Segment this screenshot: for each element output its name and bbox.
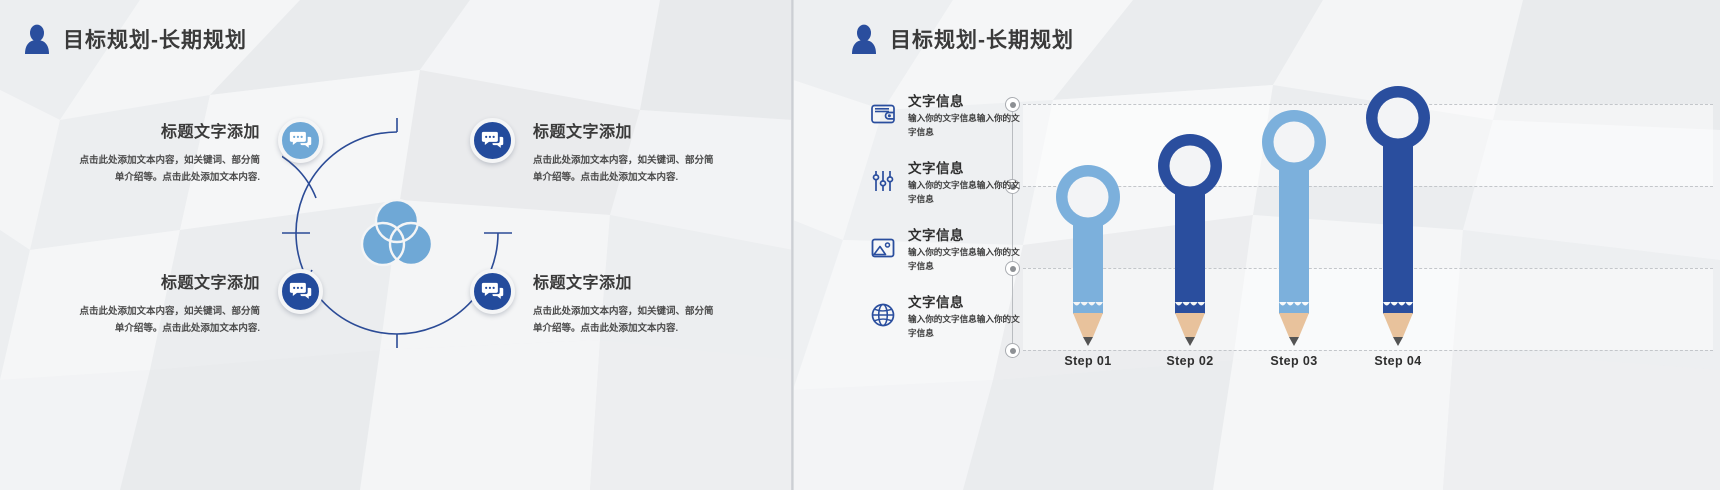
list-item-body: 输入你的文字信息输入你的文字信息 [908, 179, 1020, 207]
list-item-text: 文字信息 输入你的文字信息输入你的文字信息 [908, 289, 1020, 341]
quadrant-top-left[interactable]: 标题文字添加 点击此处添加文本内容，如关键词、部分简单介绍等。点击此处添加文本内… [72, 118, 323, 186]
quadrant-body: 点击此处添加文本内容，如关键词、部分简单介绍等。点击此处添加文本内容. [533, 153, 721, 186]
quadrant-top-right[interactable]: 标题文字添加 点击此处添加文本内容，如关键词、部分简单介绍等。点击此处添加文本内… [470, 118, 721, 186]
quadrant-bottom-left[interactable]: 标题文字添加 点击此处添加文本内容，如关键词、部分简单介绍等。点击此处添加文本内… [72, 269, 323, 337]
pencil-bar-step-01[interactable] [1051, 164, 1125, 346]
speech-bubbles-icon[interactable] [278, 269, 323, 314]
step-label-03: Step 03 [1239, 354, 1349, 368]
list-item-title: 文字信息 [908, 157, 1020, 177]
slide-header-right: 目标规划-长期规划 [851, 24, 1074, 54]
quadrant-title: 标题文字添加 [533, 269, 721, 293]
step-label-01: Step 01 [1033, 354, 1143, 368]
slide-left: 目标规划-长期规划 [0, 0, 793, 490]
speech-bubbles-icon[interactable] [470, 269, 515, 314]
quadrant-text-block: 标题文字添加 点击此处添加文本内容，如关键词、部分简单介绍等。点击此处添加文本内… [72, 118, 260, 186]
venn-three-circles-icon [362, 200, 432, 265]
quadrant-text-block: 标题文字添加 点击此处添加文本内容，如关键词、部分简单介绍等。点击此处添加文本内… [533, 269, 721, 337]
list-item[interactable]: 文字信息 输入你的文字信息输入你的文字信息 [868, 88, 1098, 155]
speech-bubbles-icon[interactable] [278, 118, 323, 163]
pencil-bar-step-03[interactable] [1257, 109, 1331, 346]
list-item-text: 文字信息 输入你的文字信息输入你的文字信息 [908, 222, 1020, 274]
person-avatar-icon [24, 24, 50, 54]
image-icon [868, 233, 898, 263]
wallet-icon [868, 99, 898, 129]
list-item-title: 文字信息 [908, 291, 1020, 311]
quadrant-text-block: 标题文字添加 点击此处添加文本内容，如关键词、部分简单介绍等。点击此处添加文本内… [533, 118, 721, 186]
quadrant-body: 点击此处添加文本内容，如关键词、部分简单介绍等。点击此处添加文本内容. [72, 153, 260, 186]
list-item-title: 文字信息 [908, 90, 1020, 110]
list-item-text: 文字信息 输入你的文字信息输入你的文字信息 [908, 155, 1020, 207]
list-item-text: 文字信息 输入你的文字信息输入你的文字信息 [908, 88, 1020, 140]
slide-right: 目标规划-长期规划 [793, 0, 1720, 490]
screenshot-root: 目标规划-长期规划 [0, 0, 1720, 490]
page-title: 目标规划-长期规划 [890, 24, 1074, 54]
list-item-body: 输入你的文字信息输入你的文字信息 [908, 112, 1020, 140]
person-avatar-icon [851, 24, 877, 54]
slide-header-left: 目标规划-长期规划 [24, 24, 247, 54]
quadrant-title: 标题文字添加 [533, 118, 721, 142]
quadrant-title: 标题文字添加 [72, 269, 260, 293]
sliders-icon [868, 166, 898, 196]
timeline-dashed-guide [1023, 350, 1713, 351]
pencil-bar-step-02[interactable] [1153, 133, 1227, 346]
quadrant-title: 标题文字添加 [72, 118, 260, 142]
step-label-04: Step 04 [1343, 354, 1453, 368]
list-item-body: 输入你的文字信息输入你的文字信息 [908, 313, 1020, 341]
list-item-title: 文字信息 [908, 224, 1020, 244]
slide-divider [791, 0, 794, 490]
list-item-body: 输入你的文字信息输入你的文字信息 [908, 246, 1020, 274]
quadrant-body: 点击此处添加文本内容，如关键词、部分简单介绍等。点击此处添加文本内容. [72, 304, 260, 337]
quadrant-body: 点击此处添加文本内容，如关键词、部分简单介绍等。点击此处添加文本内容. [533, 304, 721, 337]
globe-icon [868, 300, 898, 330]
step-label-02: Step 02 [1135, 354, 1245, 368]
pencil-bar-step-04[interactable] [1361, 85, 1435, 346]
quadrant-bottom-right[interactable]: 标题文字添加 点击此处添加文本内容，如关键词、部分简单介绍等。点击此处添加文本内… [470, 269, 721, 337]
page-title: 目标规划-长期规划 [63, 24, 247, 54]
quadrant-text-block: 标题文字添加 点击此处添加文本内容，如关键词、部分简单介绍等。点击此处添加文本内… [72, 269, 260, 337]
speech-bubbles-icon[interactable] [470, 118, 515, 163]
